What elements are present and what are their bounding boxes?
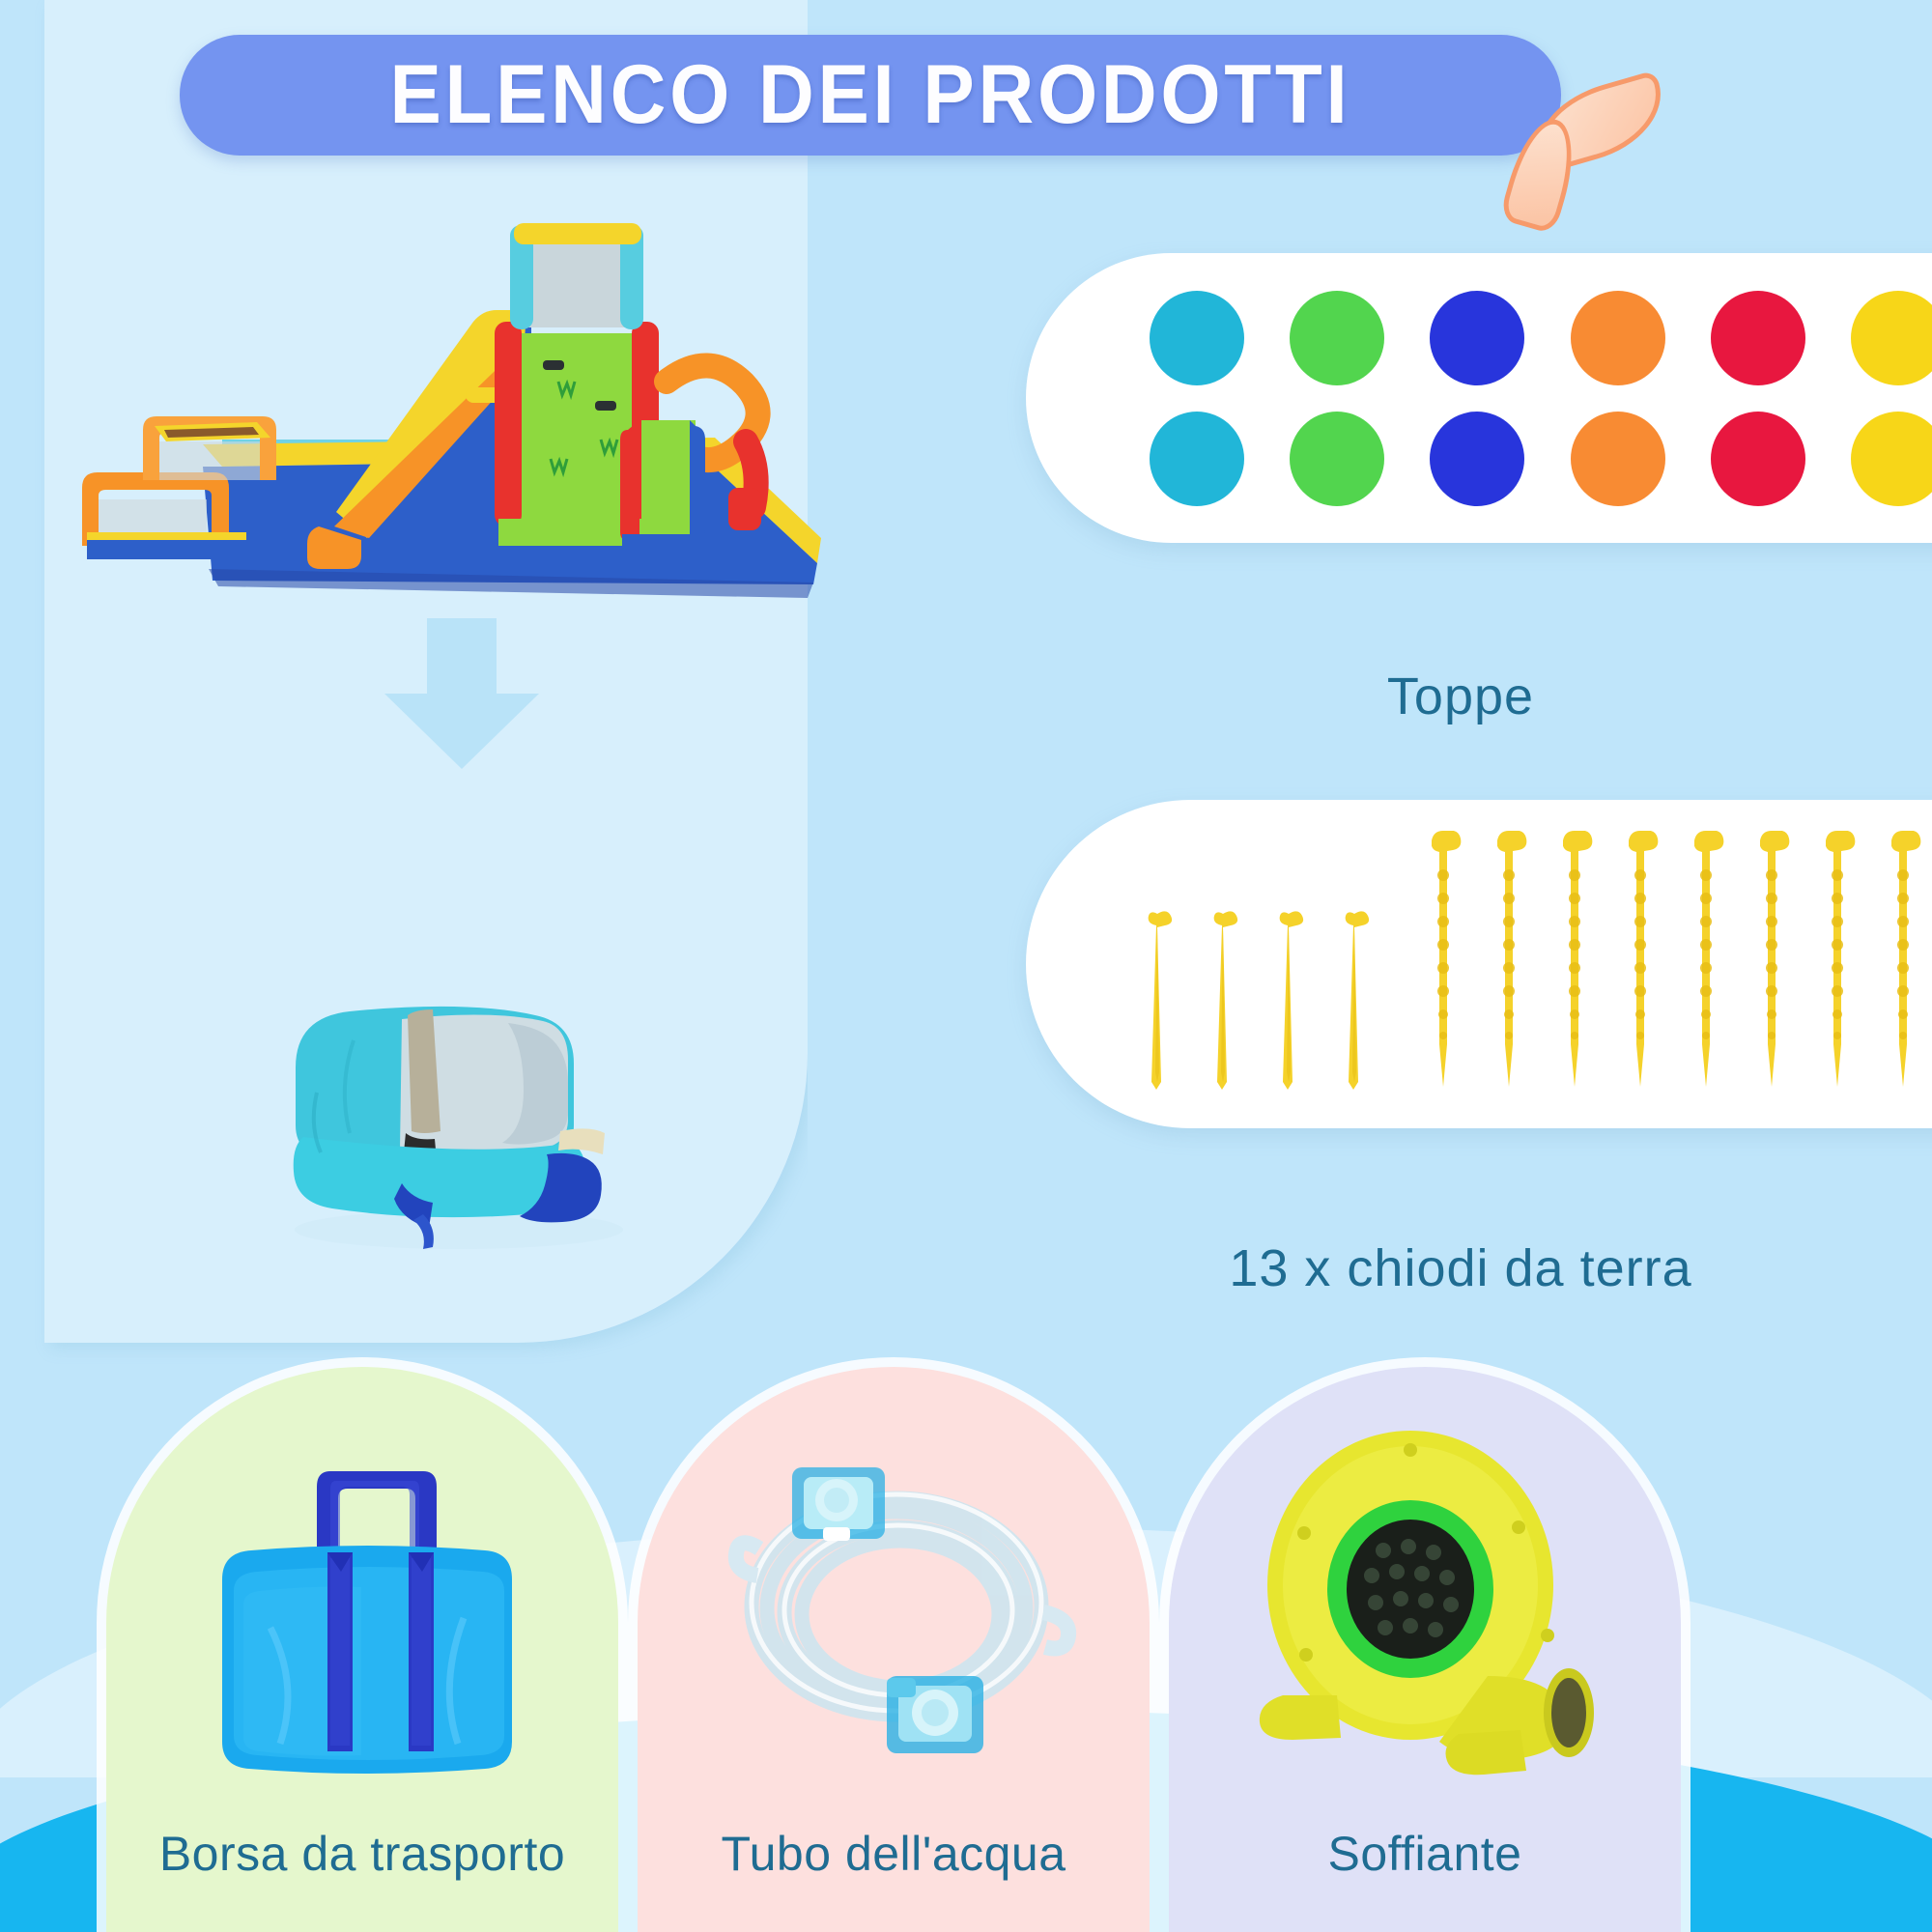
page-title: ELENCO DEI PRODOTTI (390, 47, 1351, 143)
accessory-label-water-hose: Tubo dell'acqua (638, 1826, 1150, 1882)
water-droplet-icon (1507, 66, 1671, 191)
inflatable-water-park-image (29, 198, 821, 604)
ground-stake-short-1 (1142, 904, 1175, 1090)
patch-swatch-orange-2 (1571, 412, 1665, 506)
stakes-label: 13 x chiodi da terra (997, 1238, 1924, 1298)
carry-bag-icon (106, 1406, 618, 1792)
ground-stake-long-2 (1497, 831, 1536, 1090)
patch-swatch-blue-2 (1430, 412, 1524, 506)
patches-label: Toppe (1026, 667, 1895, 726)
patch-swatch-cyan-1 (1150, 291, 1244, 385)
ground-stake-long-3 (1563, 831, 1602, 1090)
ground-stake-short-2 (1207, 904, 1240, 1090)
patches-grid (1132, 284, 1932, 512)
arrow-down-icon (384, 618, 539, 768)
patches-card (1026, 253, 1932, 543)
arrow-shaft (427, 618, 497, 697)
accessory-label-air-blower: Soffiante (1169, 1826, 1681, 1882)
ground-stake-long-6 (1760, 831, 1799, 1090)
stakes-card (1026, 800, 1932, 1128)
ground-stake-short-4 (1339, 904, 1372, 1090)
patch-swatch-yellow-2 (1851, 412, 1932, 506)
page-title-banner: ELENCO DEI PRODOTTI (180, 35, 1561, 156)
air-blower-icon (1169, 1406, 1681, 1792)
patch-swatch-cyan-2 (1150, 412, 1244, 506)
accessory-card-air-blower: Soffiante (1169, 1367, 1681, 1932)
patch-swatch-orange-1 (1571, 291, 1665, 385)
ground-stake-long-1 (1432, 831, 1470, 1090)
ground-stake-long-4 (1629, 831, 1667, 1090)
patch-swatch-blue-1 (1430, 291, 1524, 385)
arrow-head (384, 694, 539, 769)
patch-swatch-yellow-1 (1851, 291, 1932, 385)
patch-swatch-green-1 (1290, 291, 1384, 385)
patch-swatch-red-2 (1711, 412, 1805, 506)
packed-bundle-image (261, 923, 667, 1251)
ground-stake-short-3 (1273, 904, 1306, 1090)
ground-stake-long-8 (1891, 831, 1930, 1090)
patch-swatch-green-2 (1290, 412, 1384, 506)
stakes-row (1142, 819, 1932, 1109)
ground-stake-long-7 (1826, 831, 1864, 1090)
accessory-label-carry-bag: Borsa da trasporto (106, 1826, 618, 1882)
accessory-card-water-hose: Tubo dell'acqua (638, 1367, 1150, 1932)
water-hose-icon (638, 1406, 1150, 1792)
infographic-canvas: ELENCO DEI PRODOTTI (0, 0, 1932, 1932)
ground-stake-long-5 (1694, 831, 1733, 1090)
accessory-card-carry-bag: Borsa da trasporto (106, 1367, 618, 1932)
patch-swatch-red-1 (1711, 291, 1805, 385)
